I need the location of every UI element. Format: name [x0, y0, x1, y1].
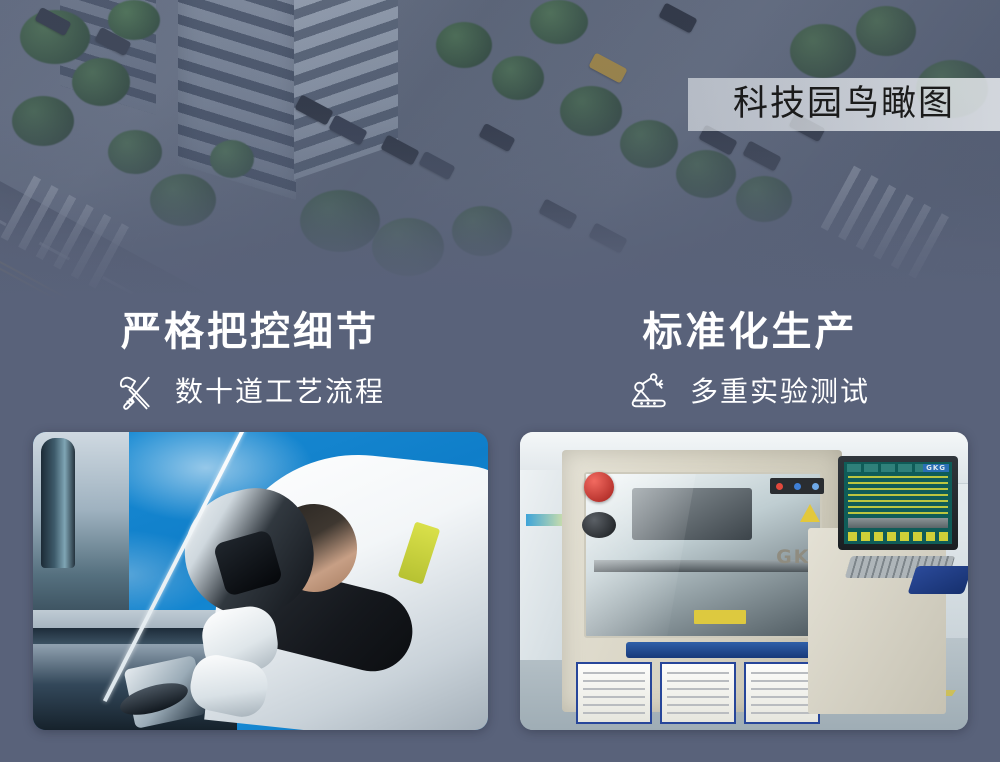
aerial-overlay-tint-horizontal	[0, 0, 1000, 300]
smt-monitor-screen: GKG	[844, 462, 952, 544]
feature-headings-band: 严格把控细节	[0, 300, 1000, 430]
welding-worker-photo	[33, 432, 488, 730]
hammer-screwdriver-icon	[115, 372, 161, 412]
feature-photos-row: GKG GKG	[0, 432, 1000, 730]
smt-control-knob[interactable]	[582, 512, 616, 538]
hero-title-text: 科技园鸟瞰图	[733, 87, 955, 122]
smt-printer-machine-body: GKG	[562, 450, 842, 712]
smt-mouse-pad	[907, 566, 968, 594]
smt-screen-data-rows	[848, 476, 948, 520]
promo-page: 科技园鸟瞰图 严格把控细节	[0, 0, 1000, 762]
feature-title: 严格把控细节	[0, 300, 500, 352]
tech-park-aerial-photo	[0, 0, 1000, 300]
smt-status-led-panel	[770, 478, 824, 494]
smt-info-document-2	[660, 662, 736, 724]
smt-emergency-stop-button[interactable]	[584, 472, 614, 502]
welding-gas-cylinder	[41, 438, 75, 568]
feature-subtitle: 数十道工艺流程	[175, 378, 385, 406]
hero-title-badge: 科技园鸟瞰图	[688, 78, 1000, 131]
feature-subtitle: 多重实验测试	[690, 378, 870, 406]
hero-aerial-section: 科技园鸟瞰图	[0, 0, 1000, 300]
smt-screen-button-row	[848, 532, 948, 541]
feature-title: 标准化生产	[500, 300, 1000, 352]
robot-arm-conveyor-icon	[630, 372, 676, 412]
smt-control-monitor: GKG	[838, 456, 958, 550]
smt-info-document-1	[576, 662, 652, 724]
smt-printer-blue-accent-bar	[626, 642, 824, 658]
feature-quality-control: 严格把控细节	[0, 300, 500, 430]
smt-screen-brand-logo: GKG	[923, 464, 949, 472]
smt-screen-progress-band	[848, 518, 948, 528]
feature-standardized-production: 标准化生产	[500, 300, 1000, 430]
smt-yellow-caution-label	[694, 610, 746, 624]
smt-warning-triangle-icon	[800, 504, 820, 522]
smt-printer-photo: GKG GKG	[520, 432, 968, 730]
feature-subtitle-row: 数十道工艺流程	[0, 372, 500, 412]
feature-subtitle-row: 多重实验测试	[500, 372, 1000, 412]
smt-printer-gantry-head	[632, 488, 752, 540]
